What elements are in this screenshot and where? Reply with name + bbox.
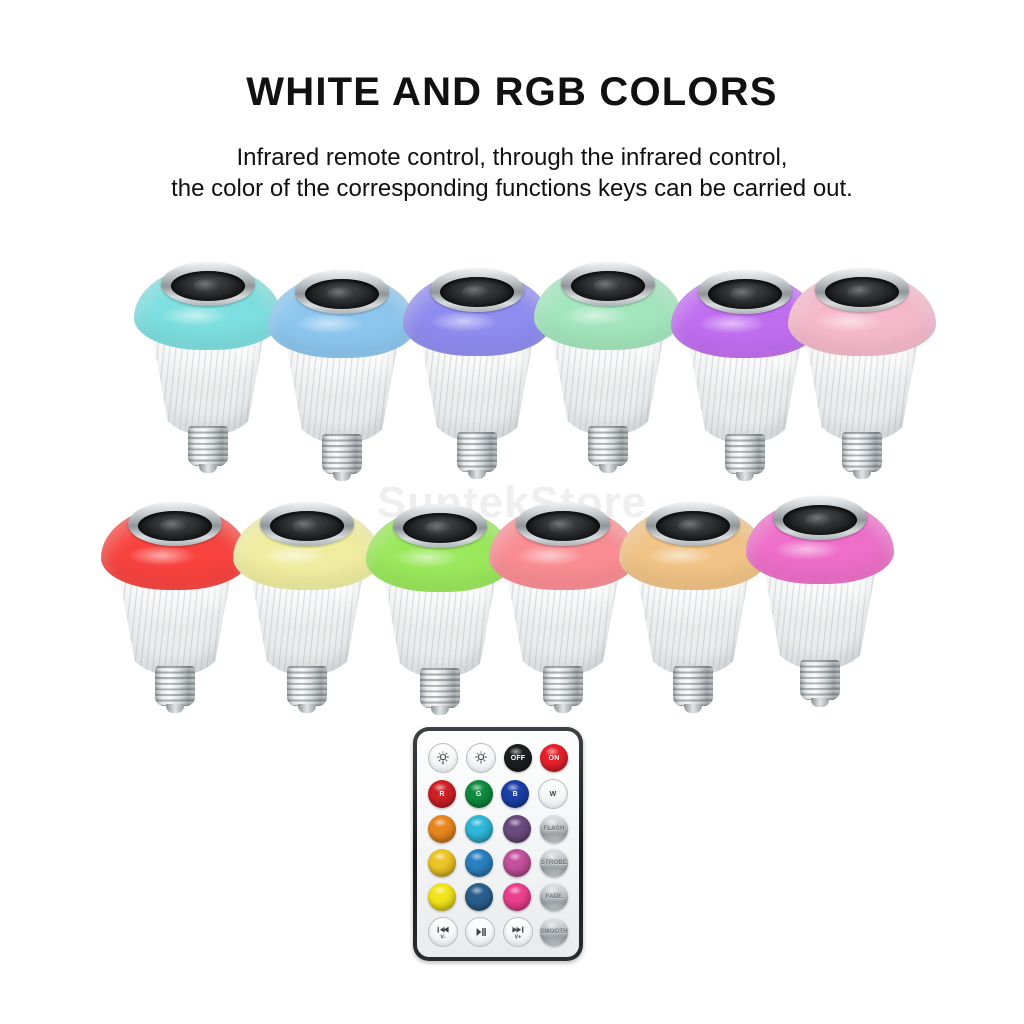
bulb-pale-yellow [232,498,382,708]
e27-screw-base [543,666,583,706]
e27-screw-base [322,434,362,474]
base-threads [673,666,713,706]
speaker-chrome-ring [260,502,354,546]
remote-button-row: FADE [428,883,568,911]
speaker-cone [138,511,212,541]
base-contact-tip [333,472,351,481]
bulb-periwinkle [402,264,552,474]
previous-volume-down-button[interactable]: V- [428,917,458,947]
next-volume-up-button[interactable]: V+ [503,917,533,947]
base-threads [842,432,882,472]
svg-text:V+: V+ [514,934,521,940]
off-button[interactable]: OFF [504,744,532,772]
color-blue-mid-button[interactable] [465,849,493,877]
play-pause-button[interactable] [465,917,495,947]
speaker-dust-cap [593,279,623,293]
bulb-turquoise [133,258,283,468]
bulb-pink [787,264,937,474]
dome-highlight [295,313,363,335]
speaker-cone [571,271,645,301]
remote-button-label: FLASH [543,826,564,832]
dome-highlight [516,545,584,567]
next-track-icon: V+ [510,924,526,940]
remote-button-label: STROBE [541,860,567,866]
color-blue-button[interactable]: B [501,780,529,808]
svg-text:+: + [442,761,445,766]
base-contact-tip [736,472,754,481]
dome-highlight [430,311,498,333]
color-yellow-button[interactable] [428,883,456,911]
e27-screw-base [725,434,765,474]
speaker-chrome-ring [430,268,524,312]
base-threads [543,666,583,706]
e27-screw-base [457,432,497,472]
on-button[interactable]: ON [540,744,568,772]
remote-button-label: OFF [511,755,526,762]
base-threads [457,432,497,472]
base-contact-tip [166,704,184,713]
speaker-chrome-ring [773,496,867,540]
svg-text:-: - [480,761,482,766]
flash-button[interactable]: FLASH [540,815,568,843]
e27-screw-base [842,432,882,472]
page-subtitle: Infrared remote control, through the inf… [0,142,1024,204]
speaker-dust-cap [805,513,835,527]
color-steel-blue-button[interactable] [465,883,493,911]
remote-button-row: STROBE [428,849,568,877]
speaker-cone [825,277,899,307]
base-contact-tip [468,470,486,479]
base-threads [588,426,628,466]
speaker-chrome-ring [698,270,792,314]
color-red-button[interactable]: R [428,780,456,808]
speaker-cone [305,279,379,309]
speaker-chrome-ring [561,262,655,306]
color-gold-button[interactable] [428,849,456,877]
speaker-cone [708,279,782,309]
play-pause-icon [472,924,488,940]
base-contact-tip [298,704,316,713]
e27-screw-base [287,666,327,706]
remote-button-label: FADE [546,894,563,900]
e27-screw-base [800,660,840,700]
color-dark-purple-button[interactable] [503,815,531,843]
remote-button-row: RGBW [428,779,568,809]
brightness-down-button[interactable]: - [466,743,496,773]
remote-face: +-OFFONRGBWFLASHSTROBEFADEV-V+SMOOTH [417,731,579,957]
e27-screw-base [588,426,628,466]
base-contact-tip [431,706,449,715]
bulb-red [100,498,250,708]
remote-button-label: ON [549,755,560,762]
base-threads [322,434,362,474]
remote-button-row: FLASH [428,815,568,843]
speaker-dust-cap [730,287,760,301]
speaker-cone [783,505,857,535]
fade-button[interactable]: FADE [540,883,568,911]
dome-highlight [128,545,196,567]
speaker-chrome-ring [815,268,909,312]
speaker-chrome-ring [161,262,255,306]
speaker-dust-cap [548,519,578,533]
remote-button-label: W [550,791,557,798]
page-title: WHITE AND RGB COLORS [0,70,1024,115]
speaker-cone [440,277,514,307]
bulb-sky-blue [267,266,417,476]
speaker-chrome-ring [516,502,610,546]
remote-button-label: G [476,791,482,798]
dome-highlight [815,311,883,333]
base-threads [725,434,765,474]
remote-button-label: SMOOTH [540,929,568,935]
e27-screw-base [188,426,228,466]
bulb-magenta [745,492,895,702]
remote-button-row: +-OFFON [428,743,568,773]
dome-highlight [561,305,629,327]
base-threads [155,666,195,706]
e27-screw-base [155,666,195,706]
e27-screw-base [673,666,713,706]
speaker-dust-cap [847,285,877,299]
strobe-button[interactable]: STROBE [540,849,568,877]
e27-screw-base [420,668,460,708]
color-orange-button[interactable] [428,815,456,843]
speaker-cone [526,511,600,541]
dome-highlight [773,539,841,561]
sun-bright-icon: + [435,750,451,766]
remote-button-label: B [513,791,518,798]
speaker-chrome-ring [128,502,222,546]
base-threads [287,666,327,706]
speaker-dust-cap [160,519,190,533]
speaker-dust-cap [462,285,492,299]
speaker-dust-cap [327,287,357,301]
subtitle-line-2: the color of the corresponding functions… [0,173,1024,204]
speaker-dust-cap [425,521,455,535]
color-hot-pink-button[interactable] [503,883,531,911]
speaker-cone [656,511,730,541]
base-contact-tip [811,698,829,707]
svg-text:V-: V- [440,934,445,940]
speaker-cone [270,511,344,541]
base-threads [420,668,460,708]
speaker-chrome-ring [295,270,389,314]
dome-highlight [393,547,461,569]
dome-highlight [161,305,229,327]
color-white-button[interactable]: W [538,779,568,809]
base-contact-tip [599,464,617,473]
base-contact-tip [853,470,871,479]
brightness-up-button[interactable]: + [428,743,458,773]
subtitle-line-1: Infrared remote control, through the inf… [0,142,1024,173]
smooth-button[interactable]: SMOOTH [540,918,568,946]
speaker-cone [171,271,245,301]
sun-dim-icon: - [473,750,489,766]
speaker-dust-cap [678,519,708,533]
previous-track-icon: V- [435,924,451,940]
base-contact-tip [199,464,217,473]
dome-highlight [260,545,328,567]
speaker-dust-cap [193,279,223,293]
color-green-button[interactable]: G [465,780,493,808]
dome-highlight [646,545,714,567]
speaker-chrome-ring [393,504,487,548]
base-contact-tip [554,704,572,713]
speaker-cone [403,513,477,543]
dome-highlight [698,313,766,335]
bulb-mint-green [533,258,683,468]
color-cyan-button[interactable] [465,815,493,843]
speaker-chrome-ring [646,502,740,546]
base-threads [188,426,228,466]
bulb-salmon [488,498,638,708]
infrared-remote-control[interactable]: +-OFFONRGBWFLASHSTROBEFADEV-V+SMOOTH [413,727,583,961]
base-contact-tip [684,704,702,713]
remote-button-label: R [439,791,444,798]
base-threads [800,660,840,700]
remote-button-row: V-V+SMOOTH [428,917,568,947]
speaker-dust-cap [292,519,322,533]
color-orchid-button[interactable] [503,849,531,877]
product-image-canvas: WHITE AND RGB COLORS Infrared remote con… [0,0,1024,1024]
